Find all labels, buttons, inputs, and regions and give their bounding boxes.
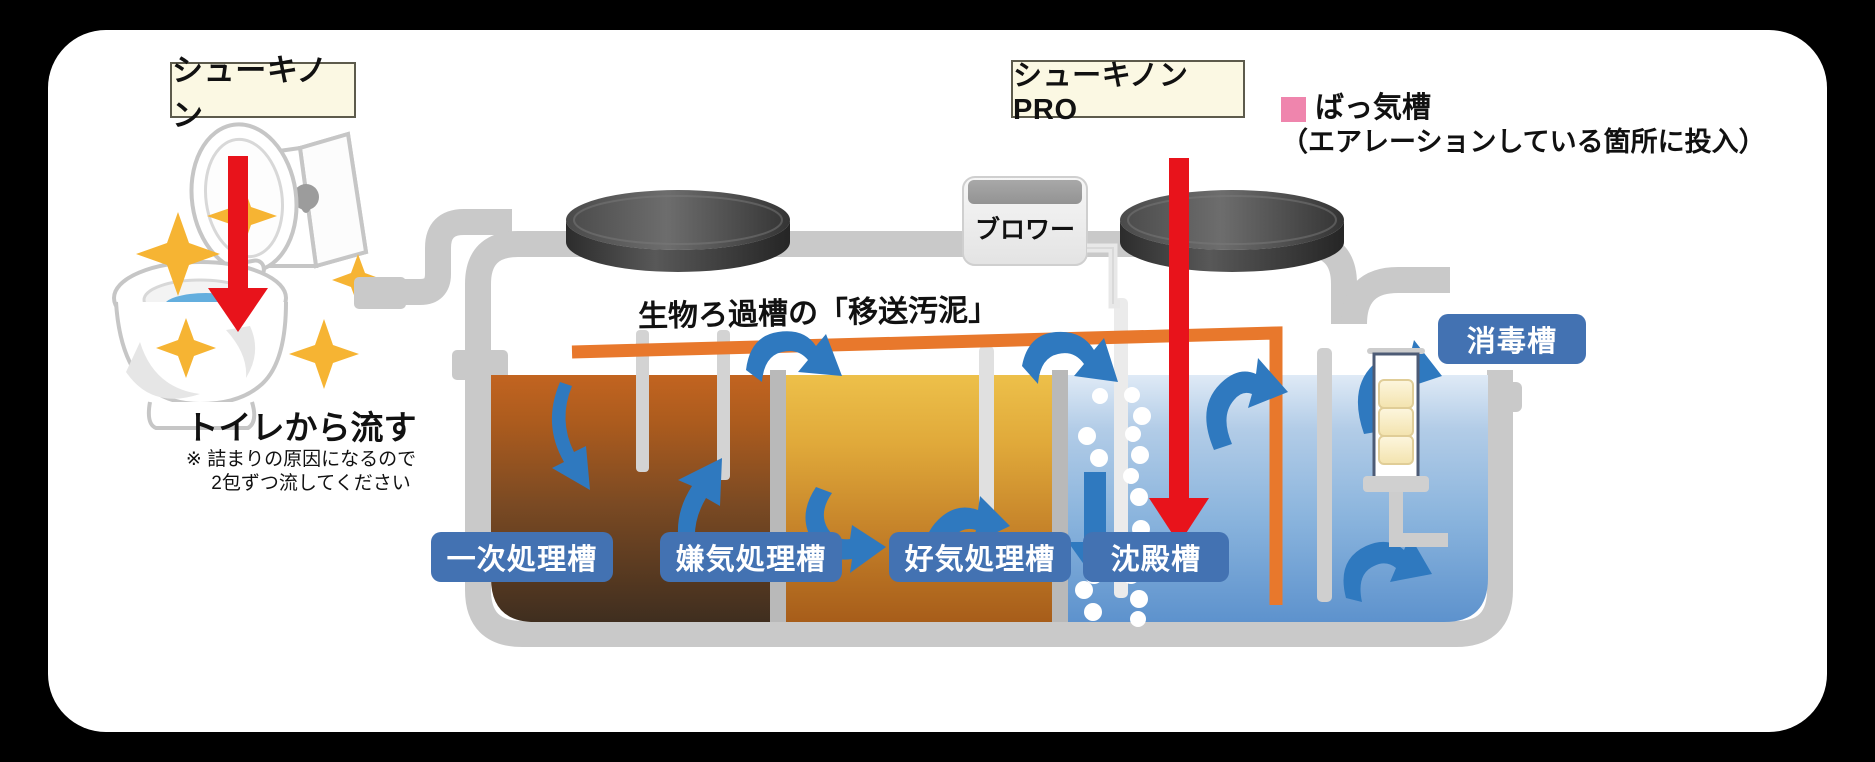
callout-shukinon-label: シューキノン	[172, 45, 354, 135]
toilet-flush-heading: トイレから流す	[156, 401, 446, 449]
tank-label-primary[interactable]: 一次処理槽	[431, 532, 613, 582]
divider-1	[770, 370, 786, 622]
sludge-line-label: 生物ろ過槽の「移送汚泥」	[638, 285, 999, 336]
blower-label-text: ブロワー	[975, 210, 1075, 246]
tank-label-anaerobic[interactable]: 嫌気処理槽	[660, 532, 842, 582]
callout-shukinon-pro-label: シューキノンPRO	[1013, 52, 1243, 127]
diagram-card: シューキノン シューキノンPRO ブロワー ばっ気槽 （エアレーションしている箇…	[48, 30, 1827, 732]
divider-2	[1052, 370, 1068, 622]
toilet-note-line-2: 2包ずつ流してください	[166, 468, 456, 495]
tank-label-sedimentation[interactable]: 沈殿槽	[1083, 532, 1229, 582]
callout-shukinon-pro[interactable]: シューキノンPRO	[1011, 60, 1245, 118]
diagram-canvas: シューキノン シューキノンPRO ブロワー ばっ気槽 （エアレーションしている箇…	[0, 0, 1875, 762]
tank-label-sedimentation-text: 沈殿槽	[1111, 536, 1201, 578]
legend-line-2: （エアレーションしている箇所に投入）	[1281, 126, 1766, 158]
tank-label-aerobic[interactable]: 好気処理槽	[889, 532, 1071, 582]
tank-label-disinfection-text: 消毒槽	[1467, 318, 1557, 360]
callout-shukinon[interactable]: シューキノン	[170, 62, 356, 118]
blower-label: ブロワー	[963, 206, 1087, 250]
tank-label-anaerobic-text: 嫌気処理槽	[676, 536, 827, 578]
tank-label-aerobic-text: 好気処理槽	[905, 536, 1056, 578]
legend: ばっ気槽 （エアレーションしている箇所に投入）	[1281, 92, 1801, 158]
tank-label-disinfection[interactable]: 消毒槽	[1438, 314, 1586, 364]
tank-label-primary-text: 一次処理槽	[447, 536, 598, 578]
legend-line-1: ばっ気槽	[1315, 92, 1766, 126]
legend-swatch-icon	[1281, 97, 1306, 122]
toilet-note-line-1: ※ 詰まりの原因になるので	[156, 444, 446, 471]
